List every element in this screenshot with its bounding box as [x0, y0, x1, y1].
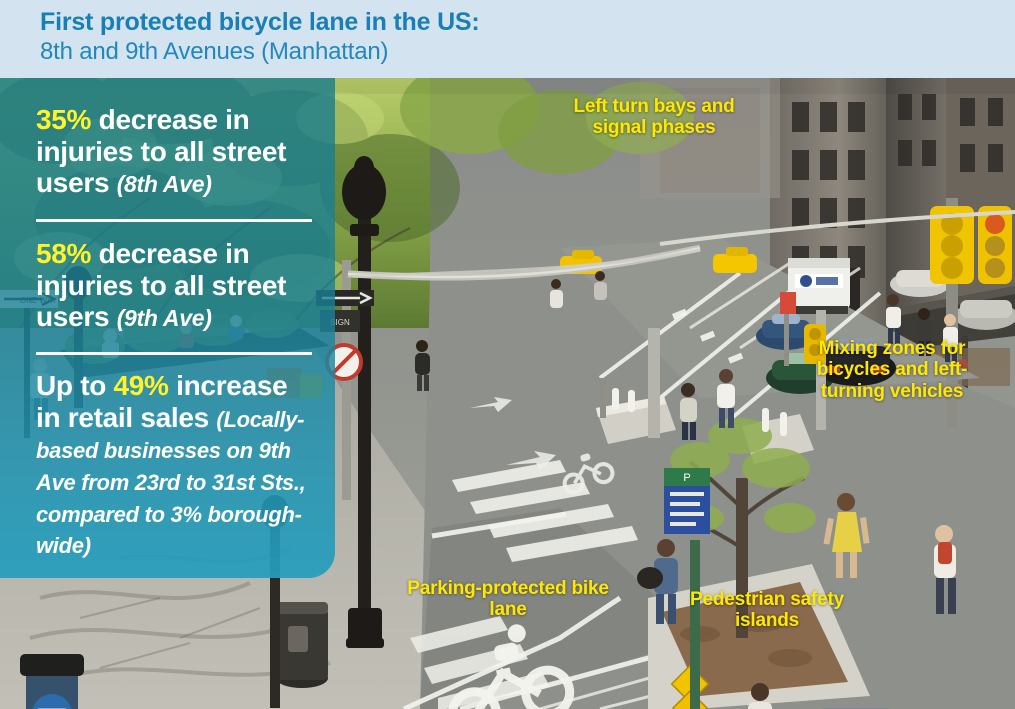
header-band: First protected bicycle lane in the US: … — [0, 0, 1015, 78]
stat-block-2: 58% decrease in injuries to all street u… — [36, 238, 316, 333]
stat-block-1: 35% decrease in injuries to all street u… — [36, 104, 316, 199]
stat-3-number: 49% — [114, 370, 169, 401]
callout-pedestrian-safety-islands: Pedestrian safety islands — [664, 589, 870, 632]
page-title: First protected bicycle lane in the US: — [40, 8, 480, 37]
callout-left-turn-bays: Left turn bays and signal phases — [554, 96, 754, 139]
stat-divider-2 — [36, 352, 312, 355]
stat-3-prefix: Up to — [36, 370, 114, 401]
svg-text:P: P — [683, 472, 690, 484]
infographic-page: SIGN ONE WAY — [0, 0, 1015, 709]
callout-parking-protected-bike-lane: Parking-protected bike lane — [392, 578, 624, 621]
stat-divider-1 — [36, 219, 312, 222]
callout-mixing-zones: Mixing zones for bicycles and left-turni… — [792, 338, 992, 402]
stat-1-number: 35% — [36, 104, 91, 135]
stat-2-note: (9th Ave) — [117, 305, 212, 331]
stat-2-number: 58% — [36, 238, 91, 269]
stats-panel: 35% decrease in injuries to all street u… — [0, 78, 335, 578]
stat-block-3: Up to 49% increase in retail sales (Loca… — [36, 370, 316, 560]
stat-1-note: (8th Ave) — [117, 171, 212, 197]
page-subtitle: 8th and 9th Avenues (Manhattan) — [40, 38, 388, 66]
